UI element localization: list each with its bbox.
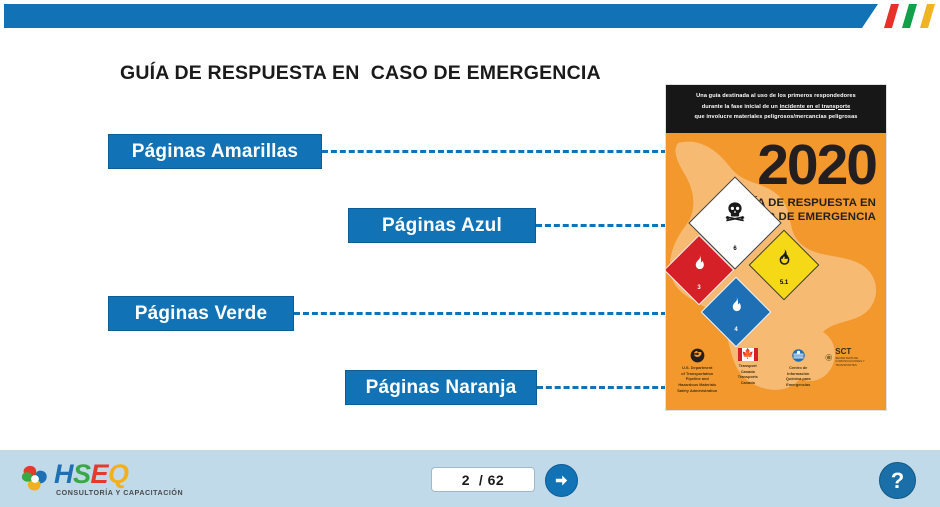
page-title: GUÍA DE RESPUESTA EN CASO DE EMERGENCIA [120, 62, 601, 85]
cover-header-underlined-text: incidente en el transporte [780, 104, 851, 110]
label-box-paginas-verde[interactable]: Páginas Verde [108, 296, 294, 331]
placard-flammable-class-number: 3 [697, 285, 700, 291]
flame-icon [690, 253, 709, 272]
connector-line-azul [536, 224, 667, 227]
canada-flag-icon: 🍁 [738, 348, 758, 361]
cover-agency-logos: U.S. Department of Transportation Pipeli… [666, 348, 886, 404]
flame-icon [727, 295, 746, 314]
label-box-paginas-naranja[interactable]: Páginas Naranja [345, 370, 537, 405]
top-accent-bar [0, 4, 940, 28]
ciquime-logo-icon [791, 348, 806, 363]
cover-header-line-3: que involucre materiales peligrosos/merc… [674, 112, 878, 123]
agency-ciquime: Centro de Información Química para Emerg… [774, 348, 822, 388]
agency-us-dot-name: U.S. Department of Transportation Pipeli… [677, 365, 717, 393]
connector-line-verde [294, 312, 667, 315]
hseq-pinwheel-icon [18, 462, 52, 496]
label-box-paginas-azul[interactable]: Páginas Azul [348, 208, 536, 243]
placard-dangerous-wet-class-number: 4 [734, 327, 737, 333]
page-indicator[interactable]: 2 / 62 [431, 467, 535, 492]
cover-header-line-2: durante la fase inicial de un incidente … [674, 102, 878, 113]
skull-crossbones-icon [722, 200, 748, 226]
hseq-letter-h: H [54, 461, 73, 488]
hseq-logo[interactable]: H S E Q CONSULTORÍA Y CAPACITACIÓN [18, 461, 183, 497]
placard-oxidizer-class-number: 5.1 [780, 280, 788, 286]
top-bar-stripe-red [884, 4, 899, 28]
us-dot-seal-icon [690, 348, 705, 363]
hseq-letter-s: S [73, 461, 91, 488]
mexico-seal-icon [825, 351, 832, 364]
hseq-letter-q: Q [108, 461, 129, 488]
top-bar-blue-band [4, 4, 878, 28]
help-button[interactable]: ? [879, 462, 916, 499]
arrow-right-icon [553, 472, 570, 489]
agency-sct: SCT SECRETARÍA DE COMUNICACIONES Y TRANS… [825, 348, 879, 367]
connector-line-naranja [537, 386, 667, 389]
flame-over-circle-icon [775, 248, 794, 267]
placard-toxic-class-number: 6 [733, 246, 736, 252]
agency-ciquime-name: Centro de Información Química para Emerg… [786, 365, 811, 388]
cover-header-band: Una guía destinada al uso de los primero… [666, 85, 886, 133]
label-box-paginas-amarillas[interactable]: Páginas Amarillas [108, 134, 322, 169]
agency-sct-name: SCT [835, 348, 879, 356]
hseq-tagline: CONSULTORÍA Y CAPACITACIÓN [56, 490, 183, 497]
agency-transport-canada: 🍁 Transport Canada Transports Canada [724, 348, 772, 386]
agency-transport-canada-name: Transport Canada Transports Canada [738, 363, 758, 386]
hseq-letter-e: E [91, 461, 109, 488]
top-bar-stripe-yellow [920, 4, 935, 28]
agency-us-dot: U.S. Department of Transportation Pipeli… [673, 348, 721, 393]
cover-year: 2020 [757, 137, 876, 194]
top-bar-stripe-green [902, 4, 917, 28]
hseq-wordmark: H S E Q CONSULTORÍA Y CAPACITACIÓN [54, 461, 183, 497]
connector-line-amarillas [322, 150, 667, 153]
agency-sct-subtitle: SECRETARÍA DE COMUNICACIONES Y TRANSPORT… [835, 357, 879, 367]
next-page-button[interactable] [545, 464, 578, 497]
cover-header-line-1: Una guía destinada al uso de los primero… [674, 91, 878, 102]
erg-guide-cover-image: Una guía destinada al uso de los primero… [666, 85, 886, 410]
